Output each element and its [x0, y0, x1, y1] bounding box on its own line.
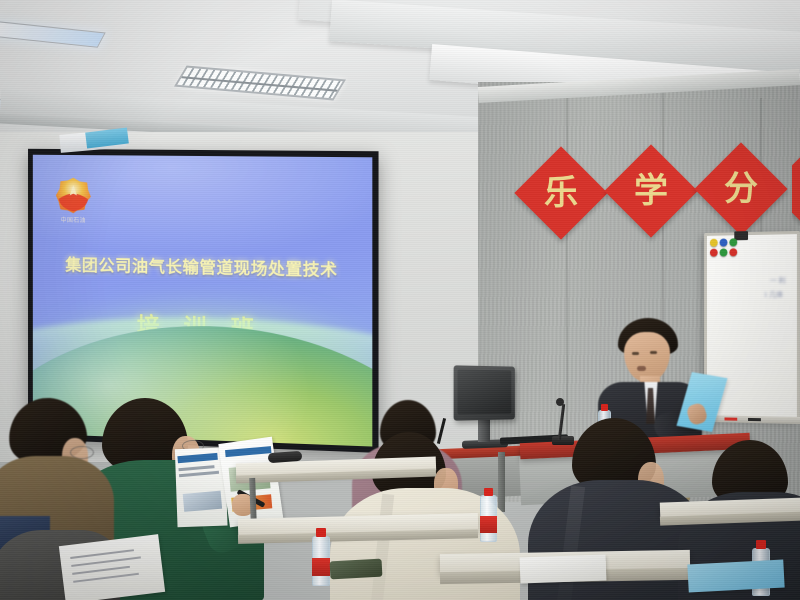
whiteboard-handwriting-line-1: 一 利: [770, 277, 786, 286]
banner-diamond-4-partial: [792, 156, 800, 226]
magnet-red-icon: [710, 249, 718, 257]
marker-red-icon: [725, 417, 738, 420]
cnpc-logo-caption: 中国石油: [52, 215, 95, 225]
microphone-head-icon: [556, 398, 564, 406]
magnet-red2-icon: [729, 248, 737, 256]
presenter-eye-right: [650, 351, 657, 354]
whiteboard-handwriting-line-2: 1 几体: [764, 291, 783, 300]
papers-front-left: [59, 534, 165, 600]
desk-object-green: [330, 559, 383, 580]
slide-title: 集团公司油气长输管道现场处置技术: [33, 251, 373, 282]
magnet-green-icon: [729, 238, 737, 246]
banner-character-2: 学: [618, 158, 684, 224]
bottle-cap-icon: [601, 404, 608, 411]
attendee-2-brochure: [173, 438, 284, 531]
cnpc-logo: 中国石油: [52, 177, 95, 229]
blue-handout-front-right: [687, 560, 784, 593]
magnet-green2-icon: [720, 248, 728, 256]
ceiling-light-grille-center-icon: [174, 66, 346, 101]
training-seminar-photo: 中国石油 集团公司油气长输管道现场处置技术 培 训 班 乐 学 分 一 利 1: [0, 0, 800, 600]
marker-black-icon: [748, 418, 761, 421]
presenter-eye-left: [632, 352, 639, 355]
lcd-monitor: [454, 365, 515, 420]
papers-front-right: [520, 555, 607, 584]
magnet-blue-icon: [720, 238, 728, 246]
banner-diamond-2: 学: [618, 158, 684, 224]
water-bottle-2: [480, 488, 497, 542]
cnpc-sunburst-icon: [55, 177, 92, 215]
water-bottle-1: [312, 528, 330, 586]
whiteboard-magnets[interactable]: [710, 238, 739, 258]
magnet-yellow-icon: [710, 239, 718, 247]
banner-character-1: 乐: [528, 160, 594, 226]
ceiling-light-panel-left-icon: [0, 20, 106, 48]
presenter-face: [624, 332, 670, 382]
monitor-rear-panel: [458, 369, 512, 414]
banner-diamond-3: 分: [708, 156, 774, 222]
banner-character-3: 分: [708, 156, 774, 222]
banner-diamond-1: 乐: [528, 160, 594, 226]
presenter-mouth: [637, 366, 646, 371]
